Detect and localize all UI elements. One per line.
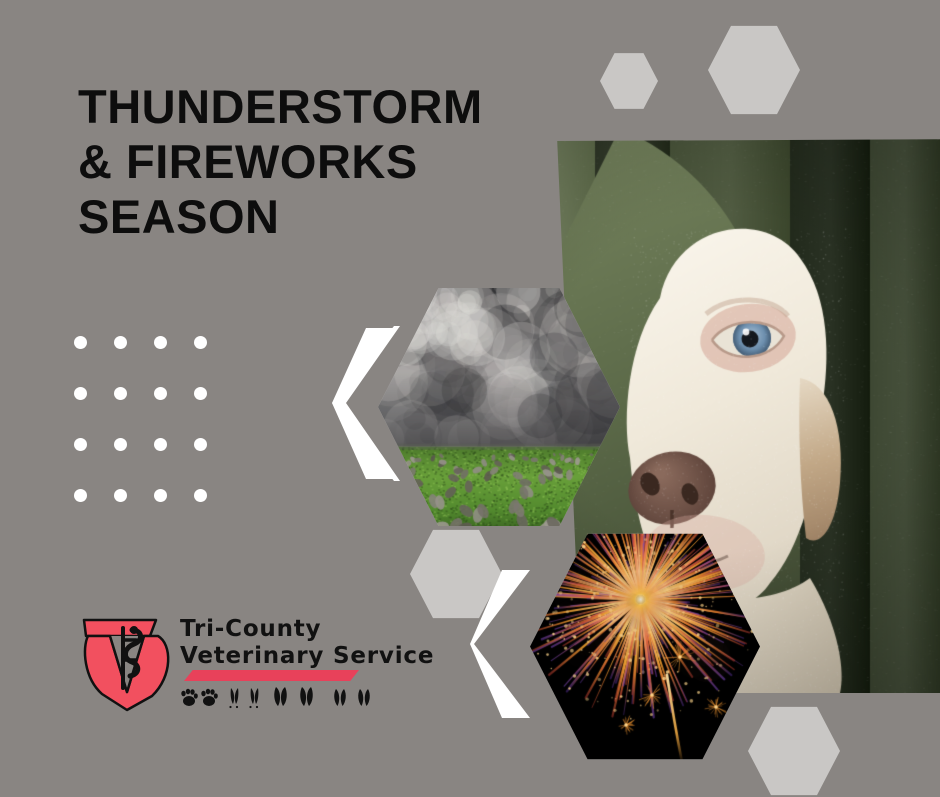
decor-dot	[194, 336, 207, 349]
decor-dot	[154, 336, 167, 349]
chevron-fireworks-icon	[470, 568, 534, 720]
decor-dot	[114, 336, 127, 349]
page-title: THUNDERSTORM & FIREWORKS SEASON	[78, 80, 548, 245]
headline-line-3: SEASON	[78, 190, 548, 245]
decor-dot	[154, 489, 167, 502]
decor-hexagon-small-top	[600, 52, 658, 110]
logo-name-line-2: Veterinary Service	[180, 643, 380, 670]
decor-dot	[154, 387, 167, 400]
headline-line-1: THUNDERSTORM	[78, 80, 548, 135]
animal-tracks-icon	[180, 684, 380, 714]
poster-canvas: THUNDERSTORM & FIREWORKS SEASON Tri-Coun…	[0, 0, 940, 788]
decor-dot	[74, 489, 87, 502]
decor-dot	[114, 489, 127, 502]
decor-dot-grid	[74, 336, 234, 540]
brand-logo[interactable]: Tri-County Veterinary Service	[80, 610, 380, 718]
decor-dot	[194, 387, 207, 400]
decor-dot	[114, 438, 127, 451]
logo-name-line-1: Tri-County	[180, 616, 380, 643]
decor-dot	[74, 438, 87, 451]
decor-hexagon-top-right	[708, 24, 800, 116]
decor-dot	[194, 489, 207, 502]
decor-dot	[194, 438, 207, 451]
decor-dot	[74, 336, 87, 349]
logo-monogram-icon	[80, 614, 176, 714]
headline-line-2: & FIREWORKS	[78, 135, 548, 190]
logo-accent-bar	[184, 670, 359, 681]
decor-dot	[74, 387, 87, 400]
logo-wordmark: Tri-County Veterinary Service	[180, 616, 380, 670]
decor-dot	[114, 387, 127, 400]
decor-hexagon-bottom-right	[748, 705, 840, 797]
decor-dot	[154, 438, 167, 451]
